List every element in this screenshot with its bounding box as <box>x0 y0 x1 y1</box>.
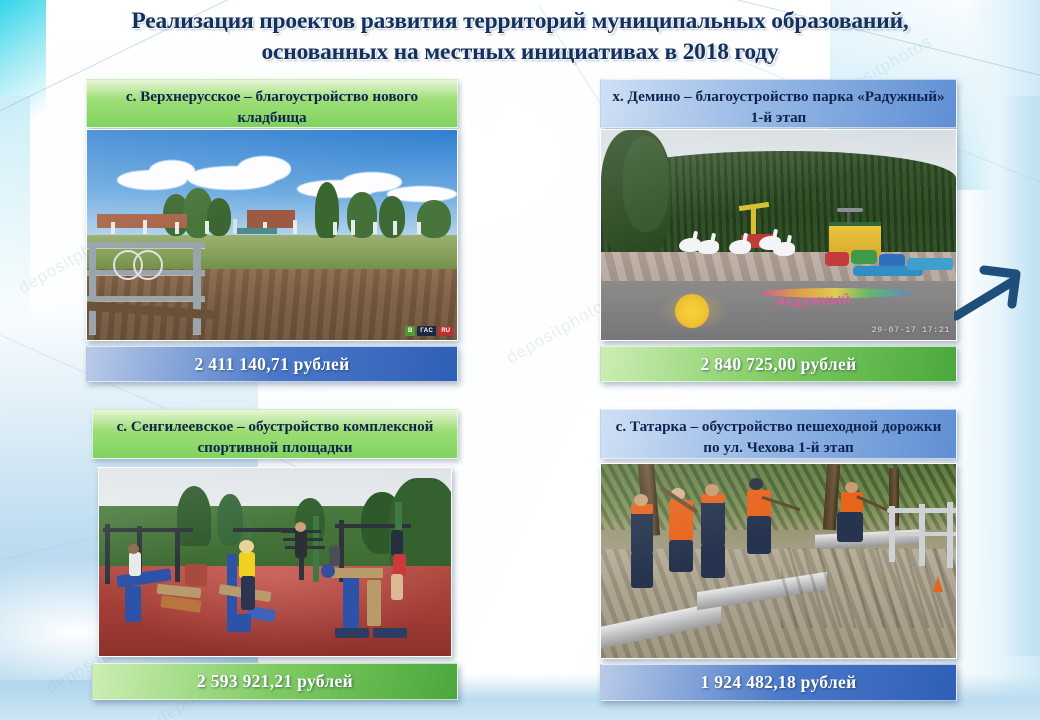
project-card-verhnerusskoe[interactable]: с. Верхнерусское – благоустройство новог… <box>86 79 458 382</box>
traffic-cone <box>933 576 943 592</box>
grave-marker <box>293 220 297 234</box>
slide-title-line-2: основанных на местных инициативах в 2018… <box>50 37 990 68</box>
painted-sun-rays <box>659 290 729 332</box>
tree <box>207 198 231 236</box>
ride-car <box>851 250 877 264</box>
exercise-machine-pedal <box>335 628 369 638</box>
helicopter-ride-blade <box>837 208 863 212</box>
swan-boat <box>729 240 751 254</box>
person-head <box>128 544 139 554</box>
worker-legs <box>747 516 771 554</box>
card-header-tatarka: с. Татарка – обустройство пешеходной дор… <box>600 409 957 459</box>
worker-head <box>749 478 763 490</box>
tree <box>177 486 211 546</box>
watermark-badge-red: RU <box>438 326 453 336</box>
tree <box>379 196 405 238</box>
project-card-sengileevskoe[interactable]: с. Сенгилеевское – обустройство комплекс… <box>92 409 458 700</box>
decorative-arrow <box>954 258 1032 328</box>
grave-marker <box>175 222 179 234</box>
gym-frame-post <box>175 530 180 582</box>
person-legs <box>241 576 255 610</box>
grave-marker <box>417 222 421 234</box>
exercise-machine-pedal <box>373 628 407 638</box>
watermark-badge-navy: ГАС <box>417 326 436 336</box>
worker-body <box>631 508 653 554</box>
worker-legs <box>669 540 693 572</box>
person-legs <box>391 574 403 600</box>
exercise-machine-seat <box>185 564 207 586</box>
project-card-demino[interactable]: х. Демино – благоустройство парка «Радуж… <box>600 79 957 382</box>
card-photo-tatarka <box>600 463 957 659</box>
card-photo-verhnerusskoe: В ГАС RU <box>86 129 458 341</box>
tree <box>623 136 669 232</box>
person-exercising <box>329 546 340 566</box>
swan-boat <box>697 240 719 254</box>
worker-legs <box>837 512 863 542</box>
person-shorts <box>393 554 406 576</box>
swan-boat <box>773 242 795 256</box>
card-photo-demino: РАДУЖНЫЙ 29-07-17 17:21 <box>600 129 957 341</box>
slide-title-line-1: Реализация проектов развития территорий … <box>50 6 990 37</box>
exercise-machine-post <box>125 586 141 622</box>
worker-head <box>705 484 719 496</box>
watermark-badge-green: В <box>405 326 415 336</box>
slide-title: Реализация проектов развития территорий … <box>50 6 990 68</box>
grave-fence <box>237 228 277 234</box>
fence-rail <box>87 242 205 248</box>
grave-marker <box>393 221 397 235</box>
grave-marker <box>205 221 209 234</box>
arrow-up-right-icon <box>954 258 1032 328</box>
fence-rail <box>87 296 205 301</box>
grave-marker <box>351 220 355 235</box>
worker-head <box>845 482 858 493</box>
tree <box>217 494 243 546</box>
person-exercising <box>239 552 255 578</box>
kiosk-pole <box>847 210 850 224</box>
grave-marker <box>373 222 377 234</box>
tree <box>417 200 451 238</box>
card-header-verhnerusskoe: с. Верхнерусское – благоустройство новог… <box>86 79 458 128</box>
worker-vest <box>747 490 771 518</box>
worker-head <box>634 494 648 506</box>
worker-legs <box>701 544 725 578</box>
project-card-tatarka[interactable]: с. Татарка – обустройство пешеходной дор… <box>600 409 957 701</box>
cloud <box>237 156 291 182</box>
worker-legs <box>631 552 653 588</box>
exercise-machine-knob <box>321 564 335 578</box>
person-exercising <box>295 530 307 558</box>
park-fence-blue <box>907 258 953 270</box>
exercise-machine-base <box>227 614 251 632</box>
exercise-machine-post <box>343 570 359 628</box>
card-amount-demino: 2 840 725,00 рублей <box>600 346 957 382</box>
railing-rail <box>887 508 957 513</box>
worker-body <box>701 498 725 546</box>
person-head <box>239 540 254 553</box>
exercise-machine-post <box>367 580 381 626</box>
grave-marker <box>143 220 147 234</box>
wheel-ruts <box>781 548 957 628</box>
card-photo-sengileevskoe <box>98 467 452 657</box>
gym-frame-post <box>105 524 110 584</box>
grave-marker <box>111 222 115 234</box>
card-header-sengileevskoe: с. Сенгилеевское – обустройство комплекс… <box>92 409 458 459</box>
railing-rail <box>887 532 957 536</box>
person-exercising <box>129 552 141 576</box>
photo-timestamp: 29-07-17 17:21 <box>872 325 950 335</box>
fence-post <box>89 242 96 334</box>
person-head <box>295 522 306 532</box>
card-amount-verhnerusskoe: 2 411 140,71 рублей <box>86 346 458 382</box>
presentation-slide: depositphotos depositphotos depositphoto… <box>0 0 1040 720</box>
card-amount-tatarka: 1 924 482,18 рублей <box>600 664 957 701</box>
village-roofline <box>247 210 295 228</box>
person-exercising <box>391 530 403 556</box>
ride-car <box>825 252 849 266</box>
card-amount-sengileevskoe: 2 593 921,21 рублей <box>92 663 458 700</box>
gym-frame-post <box>313 516 319 582</box>
grave-marker <box>333 222 337 235</box>
card-header-demino: х. Демино – благоустройство парка «Радуж… <box>600 79 957 128</box>
fence-ring <box>133 250 163 280</box>
photo-watermark-gasru: В ГАС RU <box>405 326 453 336</box>
fence-post <box>193 242 201 334</box>
